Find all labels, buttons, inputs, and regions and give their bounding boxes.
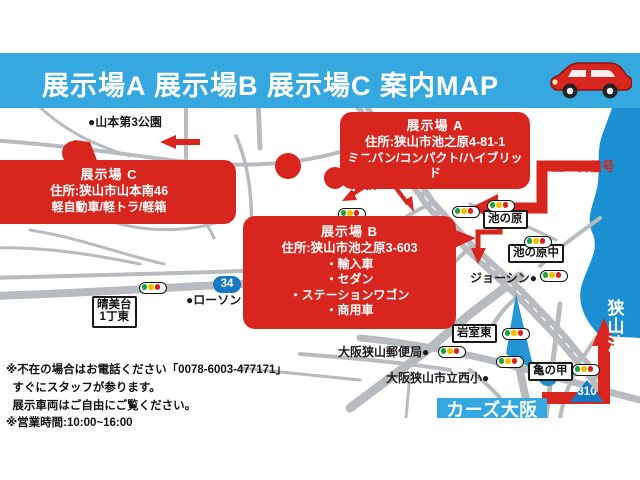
intersection-ikenohara: 池の原 (483, 210, 528, 229)
callout-c-tail (56, 140, 102, 168)
callout-b-item-1: ・輸入車 (251, 257, 448, 273)
intersection-harumidai: 晴美台 1丁東 (92, 296, 137, 328)
callout-showroom-c[interactable]: 展示場 C 住所:狭山市山本南46 軽自動車/軽トラ/軽箱 (0, 160, 236, 224)
callout-c-items: 軽自動車/軽トラ/軽箱 (0, 200, 228, 216)
third-signal-label: 三つ目信号 (552, 156, 615, 175)
poi-post-office: 大阪狭山郵便局● (338, 346, 429, 358)
intersection-iwamuro-higashi: 岩室東 (452, 324, 497, 343)
callout-c-address: 住所:狭山市山本南46 (0, 183, 228, 199)
red-car-icon (548, 58, 632, 104)
map-guide-page: 展示場A 展示場B 展示場C 案内MAP (0, 0, 640, 480)
traffic-signal-7 (438, 346, 466, 358)
footer-note: ※不在の場合はお電話ください「0078-6003-477171」 すぐにスタッフ… (6, 362, 287, 433)
traffic-signal-8 (496, 356, 524, 368)
callout-showroom-b[interactable]: 展示場 B 住所:狭山市池之原3-603 ・輸入車 ・セダン ・ステーションワゴ… (243, 216, 456, 329)
poi-nishi-elementary: 大阪狭山市立西小● (386, 372, 489, 384)
traffic-signal-4 (452, 206, 480, 218)
poi-yamamoto-park: ●山本第3公園 (88, 116, 162, 128)
poi-lawson: ●ローソン (186, 294, 241, 306)
callout-b-item-2: ・セダン (251, 272, 448, 288)
poi-joshin: ジョーシン● (470, 272, 537, 284)
callout-b-item-3: ・ステーションワゴン (251, 288, 448, 304)
traffic-signal-3 (487, 200, 515, 212)
traffic-signal-6 (540, 270, 568, 282)
red-arrow-left-top (160, 135, 200, 149)
traffic-signal-10 (572, 364, 600, 376)
lake-label: 狭山池 (604, 300, 628, 354)
callout-a-address: 住所:狭山市池之原4-81-1 (346, 134, 524, 150)
traffic-signal-9 (502, 328, 530, 340)
marker-b-dot (275, 153, 301, 179)
traffic-signal-1 (139, 282, 167, 294)
callout-b-address: 住所:狭山市池之原3-603 (251, 240, 448, 256)
callout-a-tail (330, 160, 370, 190)
traffic-signal-5 (524, 236, 552, 248)
callout-a-title: 展示場 A (346, 118, 524, 134)
callout-b-tail (450, 228, 478, 254)
callout-b-item-4: ・商用車 (251, 303, 448, 319)
route-shield-34: 34 (213, 276, 241, 293)
callout-c-title: 展示場 C (0, 167, 228, 183)
callout-b-title: 展示場 B (251, 224, 448, 240)
callout-a-items: ミニバン/コンパクト/ハイブリッド (346, 151, 524, 182)
page-title: 展示場A 展示場B 展示場C 案内MAP (42, 64, 499, 103)
intersection-kamenoko: 亀の甲 (528, 362, 573, 381)
brand-banner: カーズ大阪 (437, 398, 547, 418)
